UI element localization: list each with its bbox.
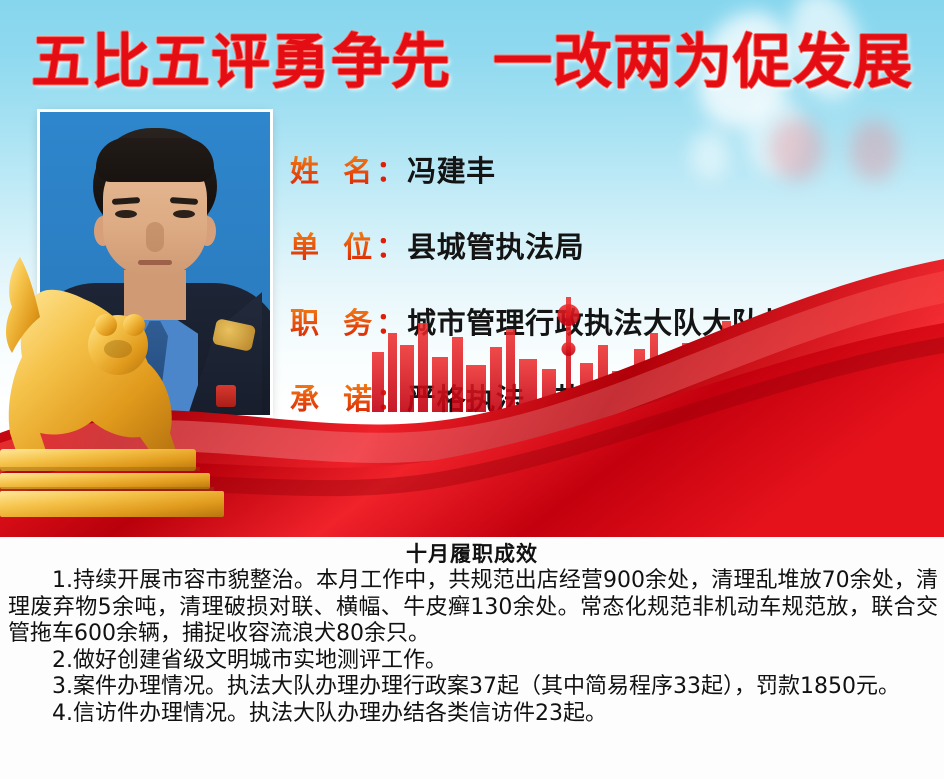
- info-value-name: 冯建丰: [407, 148, 496, 190]
- poster-title: 五比五评勇争先一改两为促发展: [0, 29, 944, 95]
- poster-title-left: 五比五评勇争先: [31, 27, 451, 96]
- poster-root: 五比五评勇争先一改两为促发展: [0, 0, 944, 779]
- report-paragraph-1: 1.持续开展市容市貌整治。本月工作中，共规范出店经营900余处，清理乱堆放70余…: [8, 568, 938, 648]
- info-colon-name: ：: [376, 148, 405, 190]
- red-ribbon-banner: [0, 237, 944, 537]
- report-paragraph-4: 4.信访件办理情况。执法大队办理办结各类信访件23起。: [8, 701, 938, 728]
- report-paragraph-3: 3.案件办理情况。执法大队办理办理行政案37起（其中简易程序33起），罚款185…: [8, 674, 938, 701]
- report-body: 1.持续开展市容市貌整治。本月工作中，共规范出店经营900余处，清理乱堆放70余…: [0, 568, 944, 727]
- poster-title-right: 一改两为促发展: [493, 27, 913, 96]
- eye-left: [115, 210, 137, 218]
- report-section: 十月履职成效 1.持续开展市容市貌整治。本月工作中，共规范出店经营900余处，清…: [0, 537, 944, 779]
- ribbon-svg: [0, 237, 944, 537]
- report-paragraph-2: 2.做好创建省级文明城市实地测评工作。: [8, 648, 938, 675]
- hero-banner: 五比五评勇争先一改两为促发展: [0, 0, 944, 537]
- eye-right: [173, 210, 195, 218]
- info-label-name: 姓 名: [290, 148, 379, 190]
- hair-fringe: [96, 138, 214, 182]
- info-row-name: 姓 名 ： 冯建丰: [290, 148, 930, 224]
- guardian-lion-statue-icon: [0, 257, 224, 517]
- report-title: 十月履职成效: [0, 537, 944, 568]
